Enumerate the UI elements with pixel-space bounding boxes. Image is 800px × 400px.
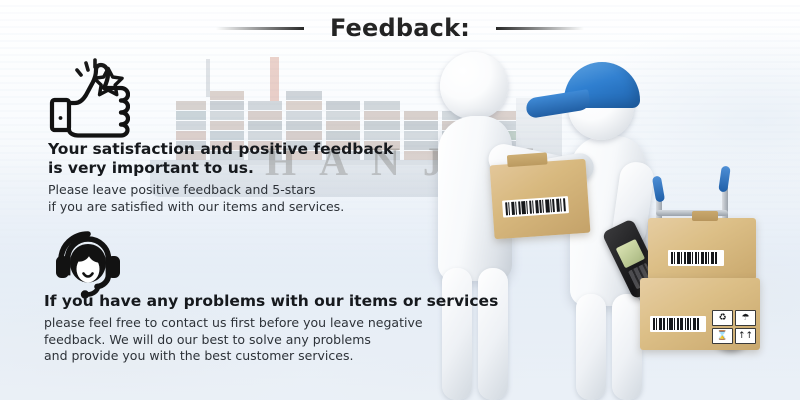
shipping-symbols: ♻ ☂ ⌛ ↑↑ [712,310,756,344]
ship-mast [270,57,279,101]
package-box [490,159,591,240]
fragile-glass-icon: ⌛ [712,328,733,344]
barcode-label [650,316,706,332]
hand-truck-rail-right [722,184,728,346]
barcode-label [668,250,724,266]
container-stack [404,101,438,160]
hand-truck-grip-left [652,175,665,202]
title-rule-right [496,27,584,30]
banner-title-row: Feedback: [0,14,800,42]
courier-torso [570,136,646,306]
hand-truck-crossbar [656,210,728,216]
box-flap [507,152,548,167]
recycle-icon: ♻ [712,310,733,326]
customer-service-headset-icon [52,228,124,300]
box-flap [692,211,718,221]
hand-truck-grip-right [718,166,731,193]
hand-truck: ♻ ☂ ⌛ ↑↑ [630,180,790,380]
customer-torso [438,116,512,281]
section-subline-line2: feedback. We will do our best to solve a… [44,332,498,349]
courier-leg-left [576,294,606,400]
container-stack [482,111,516,160]
customer-head [440,52,508,120]
section-subline-line1: Please leave positive feedback and 5-sta… [48,182,393,199]
hand-truck-rail-left [656,196,662,346]
customer-arm [486,141,576,188]
ship-bridge-tower [516,98,562,160]
customer-hand [558,156,592,184]
title-rule-left [216,27,304,30]
barcode-label [502,196,569,218]
ship-crane [206,59,210,97]
courier-arm-left [532,151,596,189]
courier-head [568,74,634,140]
barcode-scanner-icon [602,218,665,299]
blue-cap-icon [564,62,640,108]
section-subline-line1: please feel free to contact us first bef… [44,315,498,332]
page-title: Feedback: [330,14,470,42]
cap-brim [525,89,591,119]
feedback-section-problems: If you have any problems with our items … [44,292,498,365]
feedback-banner: HANJIN [0,0,800,400]
scanner-screen [616,239,645,268]
container-stack [442,111,478,160]
section-subline-line3: and provide you with the best customer s… [44,348,498,365]
courier-arm-right [610,160,655,248]
courier-leg-right [612,294,642,400]
section-headline-line2: is very important to us. [48,159,393,178]
thumbs-up-star-icon [46,56,130,140]
feedback-section-positive: Your satisfaction and positive feedback … [48,140,393,215]
scanner-keypad [628,263,655,290]
this-way-up-icon: ↑↑ [735,328,756,344]
stacked-box-top [648,218,756,280]
stacked-box-bottom: ♻ ☂ ⌛ ↑↑ [640,278,760,350]
section-subline-line2: if you are satisfied with our items and … [48,199,393,216]
section-headline-line1: If you have any problems with our items … [44,292,498,311]
section-headline-line1: Your satisfaction and positive feedback [48,140,393,159]
keep-dry-umbrella-icon: ☂ [735,310,756,326]
hand-truck-wheel [708,298,754,350]
